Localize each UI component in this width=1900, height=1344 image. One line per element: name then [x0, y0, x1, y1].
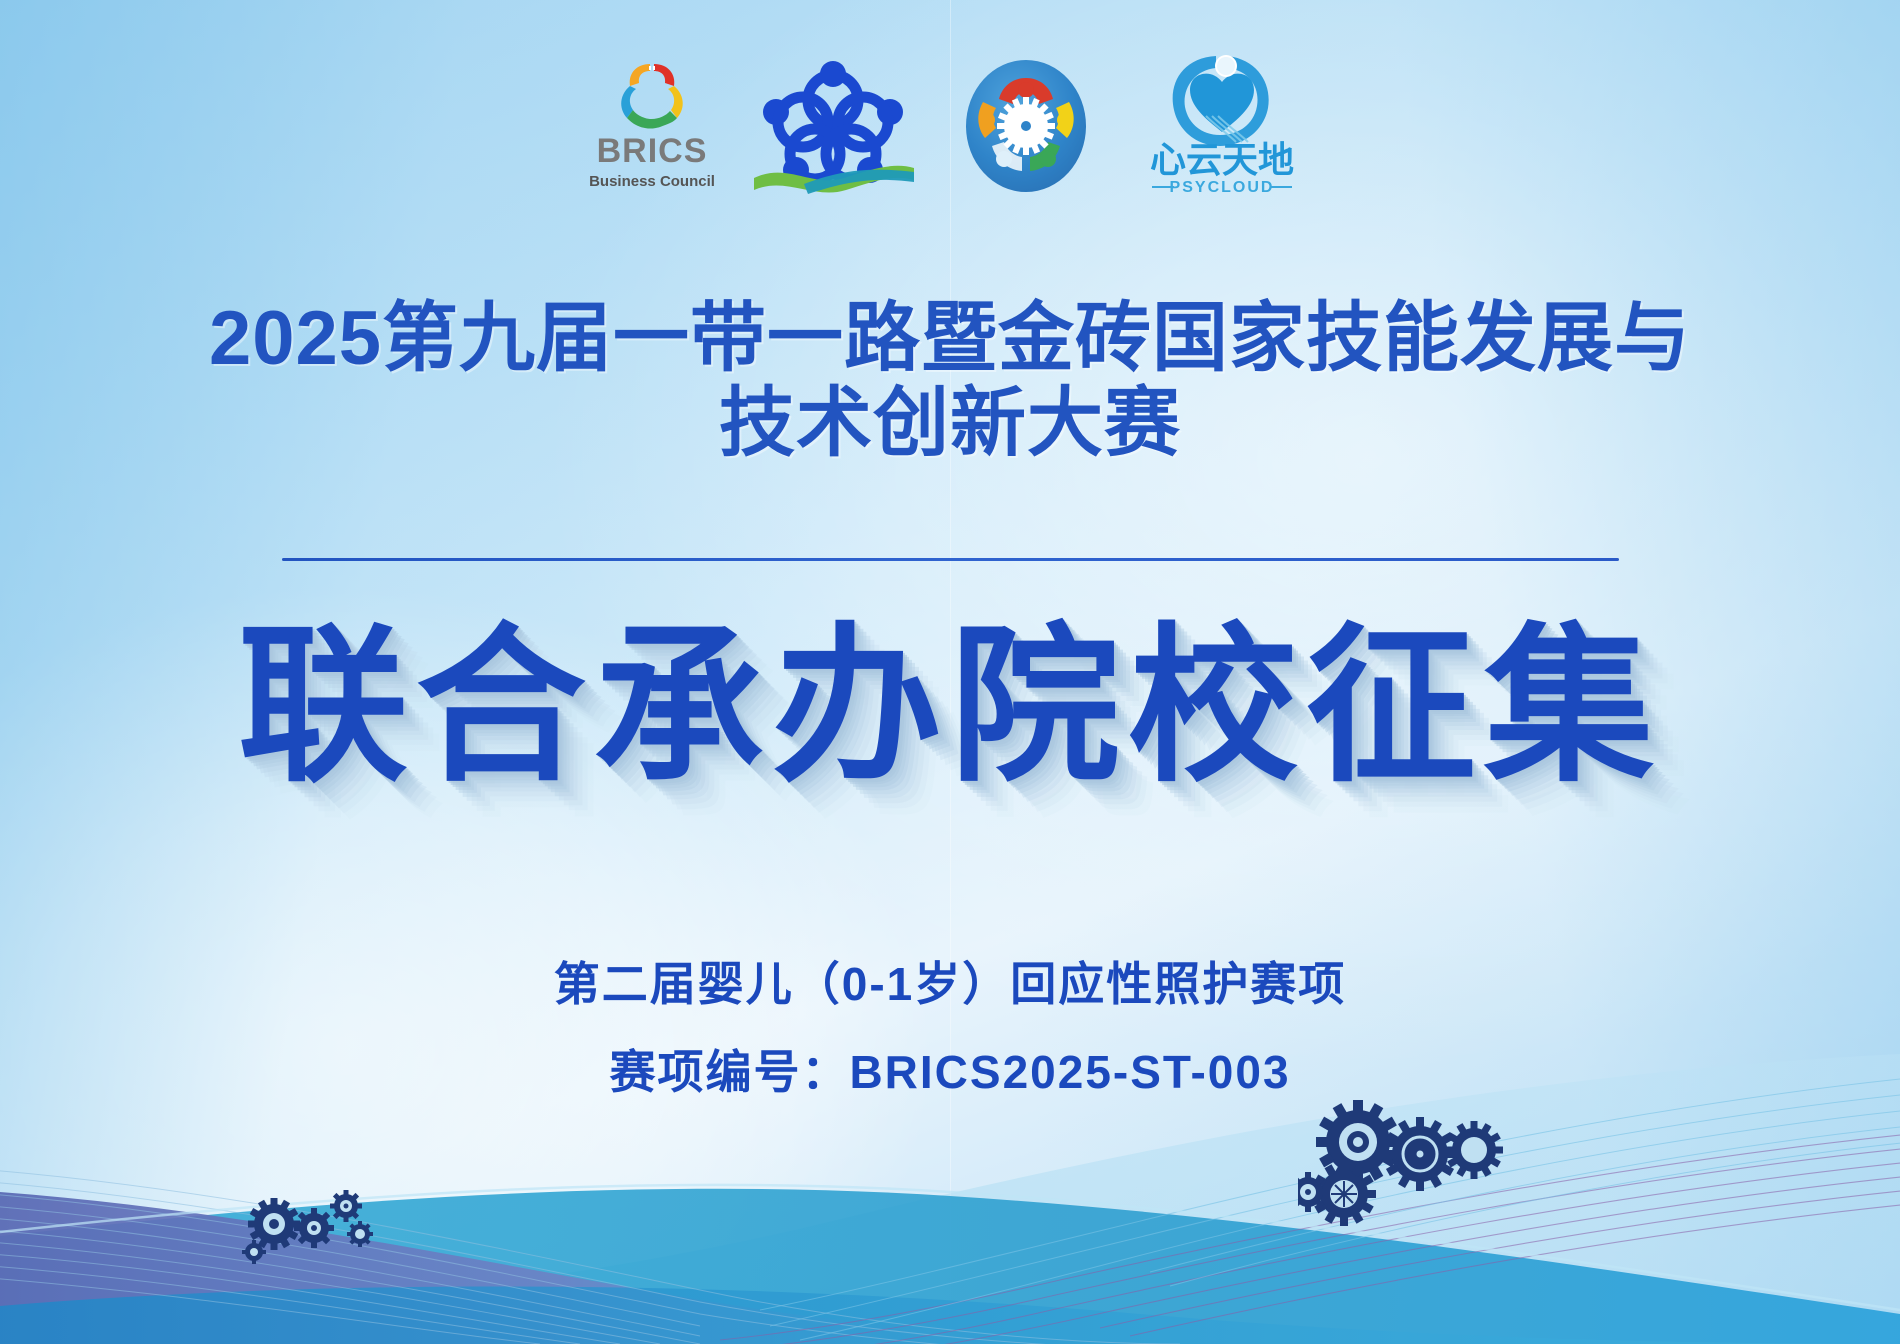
title-line-2: 技术创新大赛	[0, 381, 1900, 466]
event-code: 赛项编号：BRICS2025-ST-003	[0, 1043, 1900, 1103]
psycloud-heart-person-icon: 心云天地 PSYCLOUD	[1134, 50, 1310, 196]
page-title: 2025第九届一带一路暨金砖国家技能发展与 技术创新大赛	[0, 296, 1900, 466]
gear-icon	[1445, 1121, 1503, 1179]
headline-text: 联合承办院校征集	[238, 618, 1662, 797]
gear-icon	[1383, 1117, 1457, 1191]
poster-root: BRICS Business Council	[0, 0, 1900, 1344]
interlocking-circles-icon	[748, 54, 918, 196]
gear-icon	[330, 1190, 362, 1222]
title-divider	[282, 558, 1619, 561]
psycloud-wordmark: 心云天地	[1150, 139, 1294, 180]
event-name: 第二届婴儿（0-1岁）回应性照护赛项	[0, 955, 1900, 1015]
title-line-1: 2025第九届一带一路暨金砖国家技能发展与	[0, 296, 1900, 381]
belt-and-road-skills-logo	[748, 54, 918, 196]
brics-subtext: Business Council	[590, 173, 714, 190]
gear-icon	[294, 1208, 334, 1248]
gear-cluster-bottom-right	[1298, 1094, 1508, 1244]
skills-competition-emblem-logo	[952, 54, 1100, 196]
logo-row: BRICS Business Council	[0, 46, 1900, 196]
subtitle-container: 第二届婴儿（0-1岁）回应性照护赛项 赛项编号：BRICS2025-ST-003	[0, 955, 1900, 1103]
brics-business-council-logo: BRICS Business Council	[590, 54, 714, 196]
headline-container: 联合承办院校征集	[0, 618, 1900, 828]
brics-star-icon: BRICS Business Council	[590, 54, 714, 196]
psycloud-logo: 心云天地 PSYCLOUD	[1134, 50, 1310, 196]
gear-cluster-bottom-left	[240, 1166, 380, 1276]
gear-icon	[347, 1221, 373, 1247]
brics-wordmark: BRICS	[597, 132, 708, 170]
star-gear-emblem-icon	[952, 54, 1100, 196]
psycloud-subtext: PSYCLOUD	[1170, 179, 1275, 196]
